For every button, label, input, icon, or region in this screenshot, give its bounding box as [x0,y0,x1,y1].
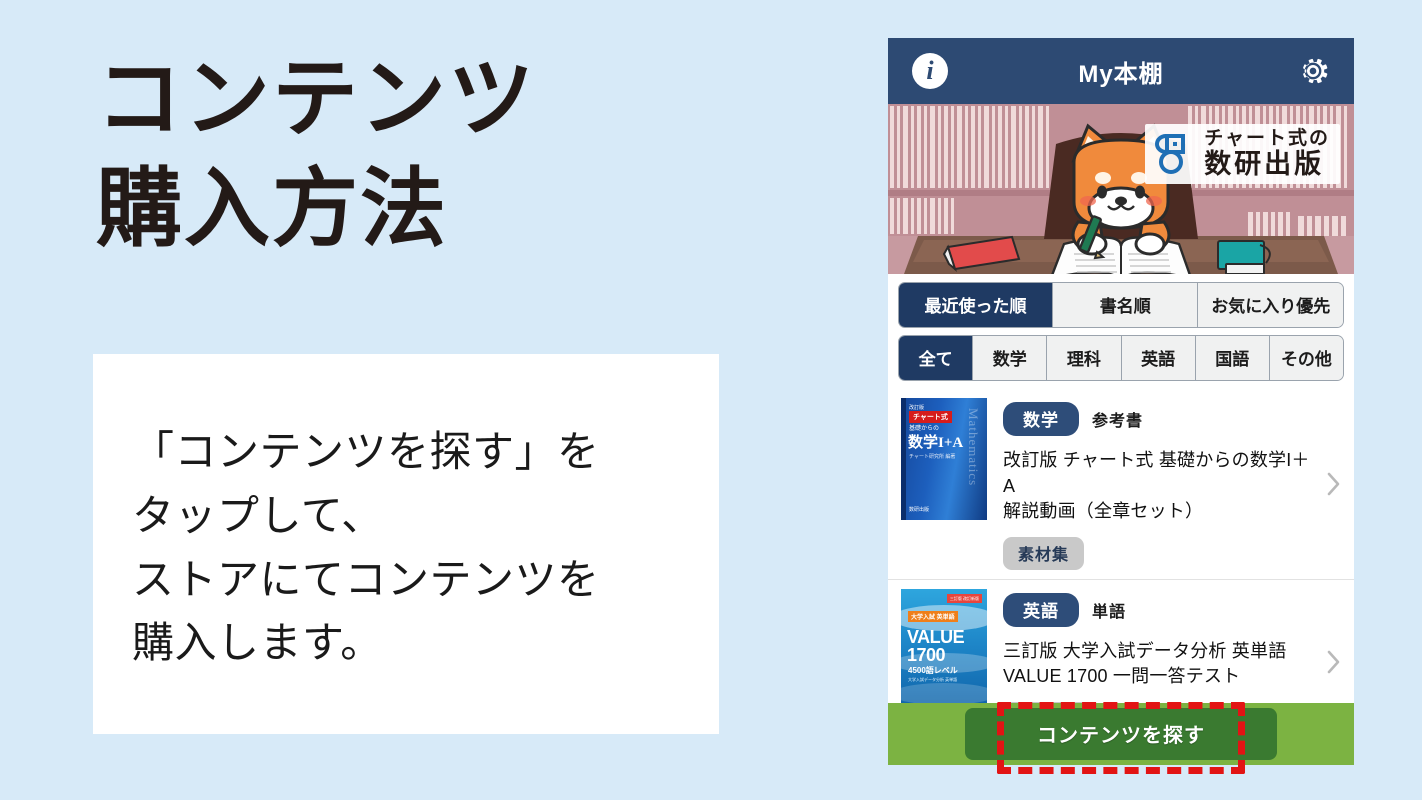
book-cover: 三訂版 改訂新版 大学入試 英単語 VALUE 1700 4500語レベル 大学… [901,589,987,711]
table-row[interactable]: 改訂版 チャート式 基礎からの 数学I+A チャート研究所 編著 数研出版 Ma… [888,389,1354,579]
cover-vertical-text: Mathematics [965,408,981,486]
subject-tab-science[interactable]: 理科 [1046,336,1120,380]
cover-main-title: 数学I+A [908,431,963,452]
kind-label: 単語 [1092,598,1126,622]
chevron-right-icon [1327,650,1340,674]
logo-line-2: 数研出版 [1204,151,1330,178]
cover-author: チャート研究所 編著 [909,453,955,460]
hero-banner: チャート式の 数研出版 [888,104,1354,274]
cover-badge: 大学入試 英単語 [908,611,958,622]
book-meta: 数学 参考書 [1003,402,1342,436]
bottom-action-bar: コンテンツを探す [888,703,1354,765]
chevron-right-icon [1327,472,1340,496]
instruction-text: 「コンテンツを探す」を タップして、 ストアにてコンテンツを 購入します。 [132,420,692,675]
app-bar-title: My本棚 [1078,54,1163,89]
kind-label: 参考書 [1092,407,1143,431]
book-info: 数学 参考書 改訂版 チャート式 基礎からの数学I＋A 解説動画（全章セット） … [987,398,1342,570]
cover-corner: 三訂版 改訂新版 [947,594,982,603]
cover-edition: 改訂版 [909,404,924,411]
book-cover: 改訂版 チャート式 基礎からの 数学I+A チャート研究所 編著 数研出版 Ma… [901,398,987,520]
instruction-card: 「コンテンツを探す」を タップして、 ストアにてコンテンツを 購入します。 [93,354,719,734]
cover-level: 4500語レベル [908,665,958,676]
subject-tab-math[interactable]: 数学 [972,336,1046,380]
subject-tab-japanese[interactable]: 国語 [1195,336,1269,380]
info-icon[interactable]: i [912,53,948,89]
sort-tab-recent[interactable]: 最近使った順 [899,283,1052,327]
gear-icon[interactable] [1294,52,1332,90]
subject-tabs: 全て 数学 理科 英語 国語 その他 [898,335,1344,381]
subject-tab-other[interactable]: その他 [1269,336,1343,380]
slide-root: コンテンツ 購入方法 「コンテンツを探す」を タップして、 ストアにてコンテンツ… [0,0,1422,800]
cover-series: チャート式 [909,411,952,423]
chart-logo-icon [1153,132,1197,176]
publisher-logo: チャート式の 数研出版 [1145,124,1340,184]
cover-main-2: 1700 [907,645,945,666]
book-title: 三訂版 大学入試データ分析 英単語 VALUE 1700 一問一答テスト [1003,639,1342,690]
sort-tab-favorites[interactable]: お気に入り優先 [1197,283,1343,327]
sort-tab-title[interactable]: 書名順 [1052,283,1198,327]
sort-tabs: 最近使った順 書名順 お気に入り優先 [898,282,1344,328]
content-tag: 素材集 [1003,537,1084,570]
cover-sub: 大学入試データ分析 英単語 [908,677,957,683]
book-meta: 英語 単語 [1003,593,1342,627]
subject-tab-all[interactable]: 全て [899,336,972,380]
logo-line-1: チャート式の [1204,129,1330,148]
subject-badge: 英語 [1003,593,1079,627]
book-title: 改訂版 チャート式 基礎からの数学I＋A 解説動画（全章セット） [1003,448,1342,525]
subject-tab-english[interactable]: 英語 [1121,336,1195,380]
phone-mockup: i My本棚 [888,38,1354,765]
find-content-button[interactable]: コンテンツを探す [965,708,1277,760]
subject-badge: 数学 [1003,402,1079,436]
app-bar: i My本棚 [888,38,1354,104]
cover-publisher: 数研出版 [909,506,929,513]
filter-controls: 最近使った順 書名順 お気に入り優先 全て 数学 理科 英語 国語 その他 [888,274,1354,381]
page-title: コンテンツ 購入方法 [96,44,736,264]
